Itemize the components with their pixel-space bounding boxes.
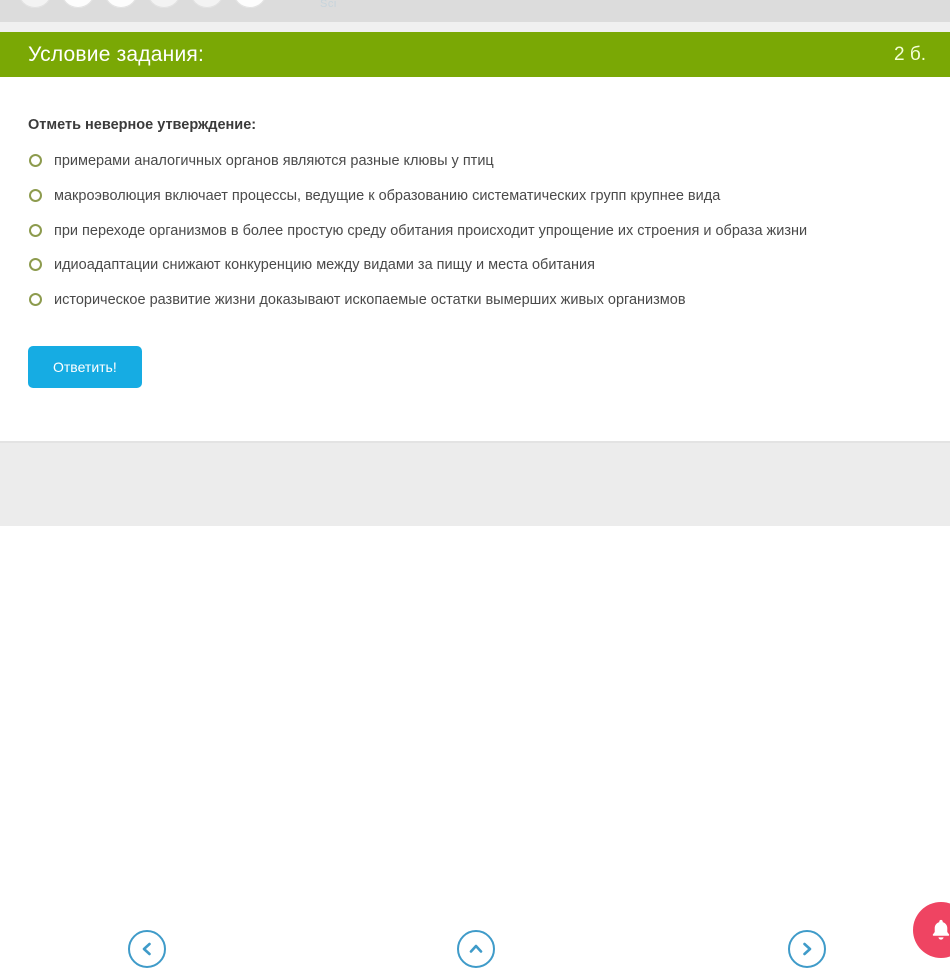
answer-option[interactable]: примерами аналогичных органов являются р… [28,151,922,173]
avatar[interactable] [104,0,138,8]
radio-icon[interactable] [29,189,42,202]
radio-icon[interactable] [29,258,42,271]
answer-option-label: примерами аналогичных органов являются р… [54,153,494,169]
task-card: Отметь неверное утверждение: примерами а… [0,77,950,442]
answer-option[interactable]: историческое развитие жизни доказывают и… [28,290,922,312]
radio-icon[interactable] [29,154,42,167]
chevron-left-icon [139,941,155,957]
points-badge: 2 б. [894,44,926,66]
submit-row: Ответить! [28,346,922,388]
avatar[interactable] [18,0,52,8]
strip-divider [0,22,950,32]
answer-option-label: при переходе организмов в более простую … [54,223,807,239]
question-prompt: Отметь неверное утверждение: [28,117,922,133]
answer-options-list: примерами аналогичных органов являются р… [28,151,922,312]
notifications-button[interactable] [913,902,950,958]
radio-icon[interactable] [29,224,42,237]
next-task-button[interactable] [788,930,826,968]
avatar[interactable] [233,0,267,8]
answer-option[interactable]: идиоадаптации снижают конкуренцию между … [28,255,922,277]
answer-option-label: историческое развитие жизни доказывают и… [54,292,686,308]
submit-answer-button[interactable]: Ответить! [28,346,142,388]
faint-cutoff-label: Sci [320,0,337,10]
task-header-bar: Условие задания: 2 б. [0,32,950,77]
bell-icon [928,917,950,943]
avatar[interactable] [190,0,224,8]
chevron-up-icon [468,941,484,957]
avatar[interactable] [147,0,181,8]
answer-option[interactable]: при переходе организмов в более простую … [28,221,922,243]
task-page: Sci Условие задания: 2 б. Отметь неверно… [0,0,950,526]
avatar[interactable] [61,0,95,8]
previous-task-button[interactable] [128,930,166,968]
up-to-list-button[interactable] [457,930,495,968]
answer-option-label: идиоадаптации снижают конкуренцию между … [54,257,595,273]
radio-icon[interactable] [29,293,42,306]
chevron-right-icon [799,941,815,957]
answer-option[interactable]: макроэволюция включает процессы, ведущие… [28,186,922,208]
answer-option-label: макроэволюция включает процессы, ведущие… [54,188,720,204]
top-avatar-strip: Sci [0,0,950,22]
page-title: Условие задания: [28,43,204,67]
bottom-nav-bar [0,443,950,526]
avatar-row [18,0,267,8]
